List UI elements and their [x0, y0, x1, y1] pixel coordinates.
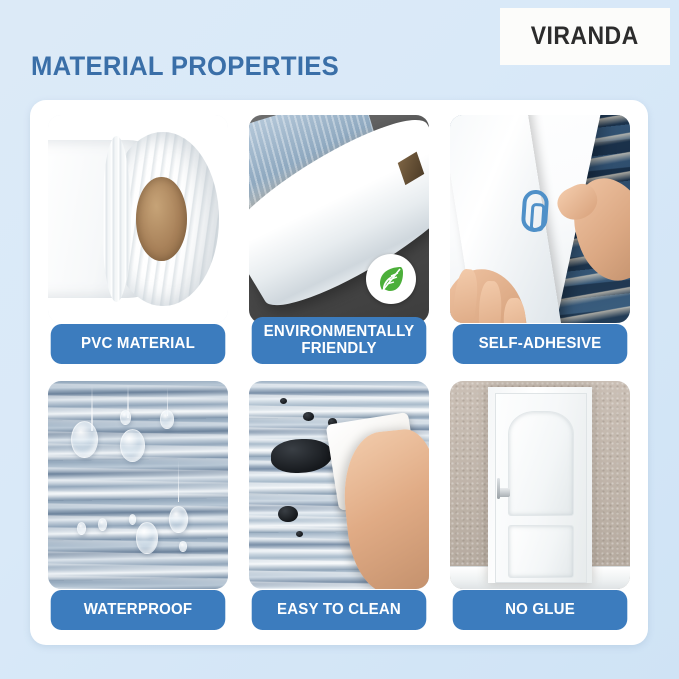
self-adhesive-image	[450, 115, 630, 323]
pvc-roll-image	[48, 115, 228, 323]
no-glue-image	[450, 381, 630, 589]
feature-card: PVC MATERIAL ENVIRONMENTALLY FR	[30, 100, 648, 645]
feature-tile-environmentally-friendly[interactable]: ENVIRONMENTALLY FRIENDLY	[249, 115, 429, 364]
paperclip-icon	[521, 189, 550, 233]
feature-caption-easy-to-clean: EASY TO CLEAN	[252, 590, 427, 630]
feature-caption-pvc-material: PVC MATERIAL	[51, 324, 226, 364]
feature-caption-self-adhesive: SELF-ADHESIVE	[453, 324, 628, 364]
feature-caption-waterproof: WATERPROOF	[51, 590, 226, 630]
door-handle	[498, 488, 510, 497]
feature-tile-pvc-material[interactable]: PVC MATERIAL	[48, 115, 228, 364]
eco-roll-image	[249, 115, 429, 323]
feature-tile-waterproof[interactable]: WATERPROOF	[48, 381, 228, 630]
feature-tile-easy-to-clean[interactable]: EASY TO CLEAN	[249, 381, 429, 630]
easy-to-clean-image	[249, 381, 429, 589]
feature-caption-no-glue: NO GLUE	[453, 590, 628, 630]
feature-caption-environmentally-friendly: ENVIRONMENTALLY FRIENDLY	[252, 317, 427, 364]
brand-logo-box: VIRANDA	[500, 8, 670, 65]
waterproof-image	[48, 381, 228, 589]
brand-name: VIRANDA	[531, 22, 639, 51]
feature-tile-self-adhesive[interactable]: SELF-ADHESIVE	[450, 115, 630, 364]
feature-grid: PVC MATERIAL ENVIRONMENTALLY FR	[48, 115, 630, 630]
page-title: MATERIAL PROPERTIES	[31, 51, 339, 82]
feature-tile-no-glue[interactable]: NO GLUE	[450, 381, 630, 630]
